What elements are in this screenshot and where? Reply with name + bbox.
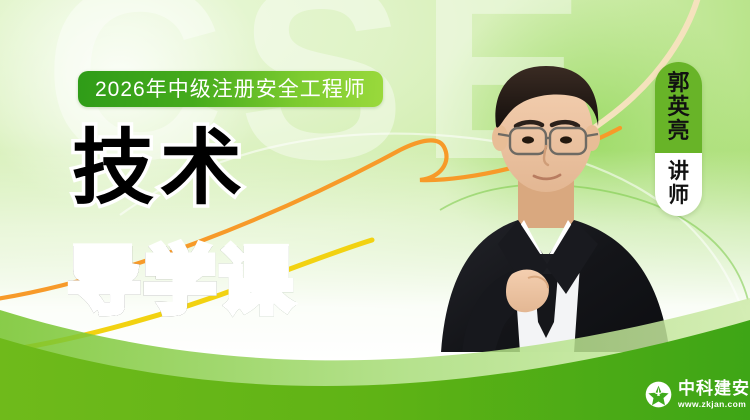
instructor-name-badge: 郭 英 亮 讲 师 <box>655 62 702 216</box>
instructor-name: 郭 英 亮 <box>655 62 702 153</box>
brand-logo-text: 中科建安 www.zkjan.com <box>678 380 750 409</box>
brand-logo[interactable]: 中科建安 www.zkjan.com <box>645 380 750 409</box>
brand-url: www.zkjan.com <box>678 400 750 409</box>
course-poster: CSE <box>0 0 750 420</box>
badge-label: 2026年中级注册安全工程师 <box>95 79 366 100</box>
instructor-name-char-3: 亮 <box>667 119 689 143</box>
course-category-badge: 2026年中级注册安全工程师 <box>78 71 383 107</box>
page-subtitle: 导学课 <box>68 246 296 318</box>
instructor-role: 讲 师 <box>655 153 702 216</box>
brand-name: 中科建安 <box>678 380 750 397</box>
instructor-role-char-2: 师 <box>668 184 689 208</box>
instructor-name-char-2: 英 <box>667 95 689 119</box>
instructor-role-char-1: 讲 <box>668 160 689 184</box>
zkjan-star-logo-icon <box>645 381 672 408</box>
instructor-name-char-1: 郭 <box>667 71 689 95</box>
page-title: 技术 <box>72 128 248 210</box>
